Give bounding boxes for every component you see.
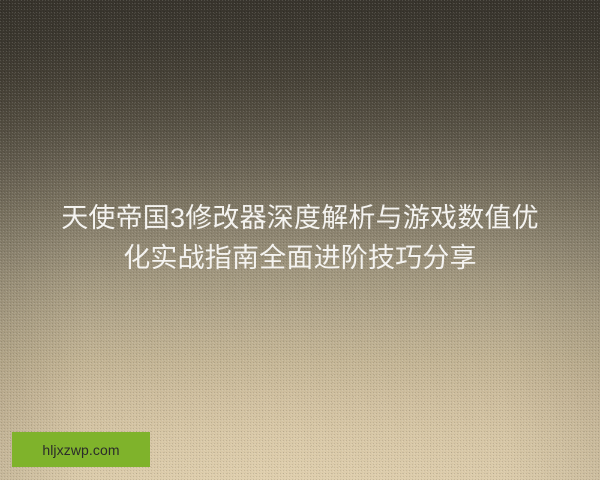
cover-image-canvas: 天使帝国3修改器深度解析与游戏数值优 化实战指南全面进阶技巧分享 hljxzwp… [0,0,600,480]
watermark-site-label: hljxzwp.com [42,443,119,457]
page-title: 天使帝国3修改器深度解析与游戏数值优 化实战指南全面进阶技巧分享 [0,198,600,278]
watermark-badge: hljxzwp.com [12,432,150,467]
